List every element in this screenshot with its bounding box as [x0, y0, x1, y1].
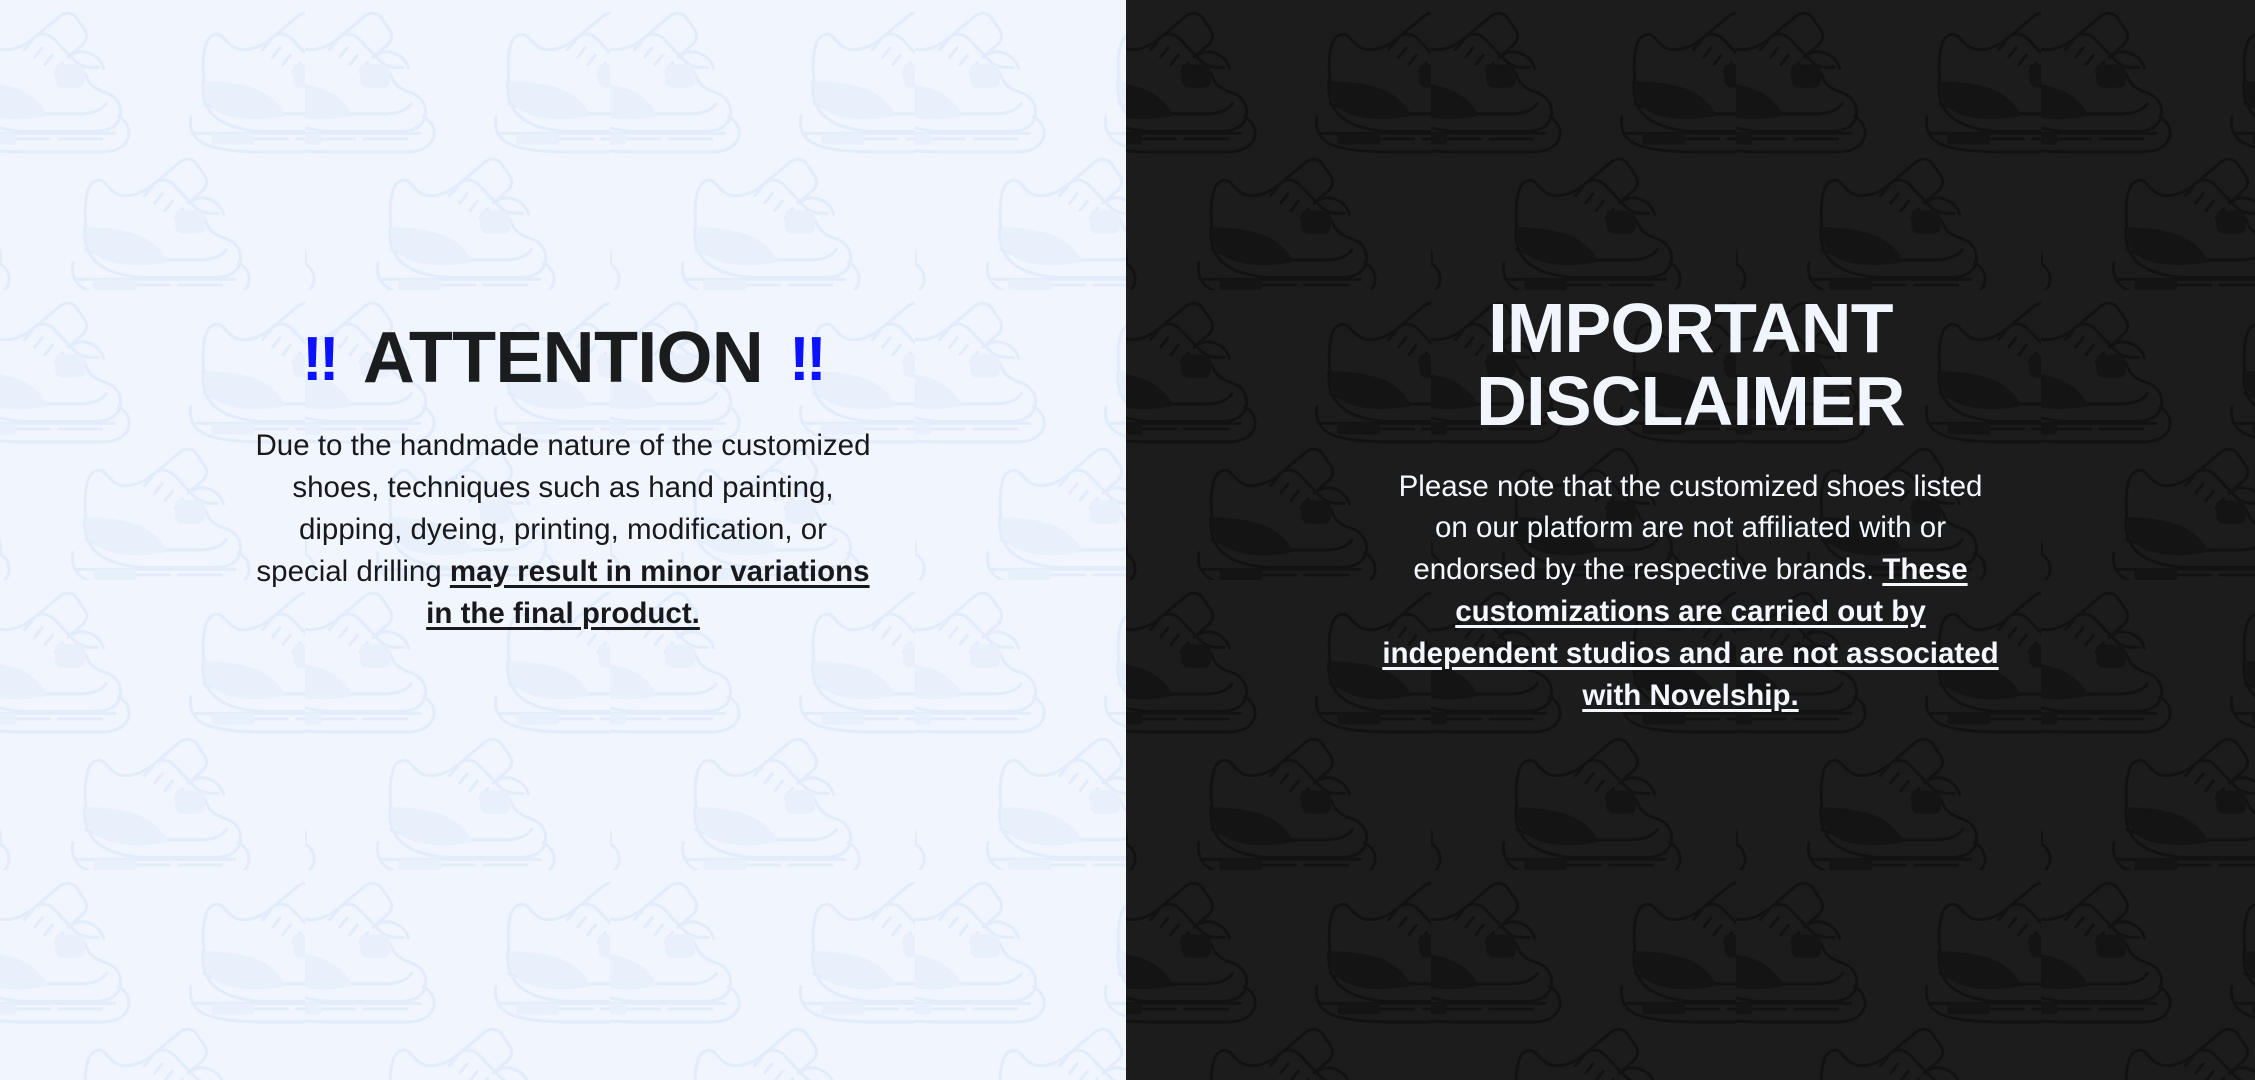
- attention-heading: ‼ ATTENTION ‼: [302, 322, 824, 394]
- disclaimer-panel: IMPORTANT DISCLAIMER Please note that th…: [1126, 0, 2255, 1080]
- disclaimer-heading: IMPORTANT DISCLAIMER: [1476, 292, 1905, 438]
- disclaimer-body: Please note that the customized shoes li…: [1381, 466, 2001, 717]
- disclaimer-content: IMPORTANT DISCLAIMER Please note that th…: [1126, 0, 2255, 717]
- attention-content: ‼ ATTENTION ‼ Due to the handmade nature…: [0, 0, 1126, 634]
- attention-body: Due to the handmade nature of the custom…: [253, 425, 873, 634]
- attention-panel: ‼ ATTENTION ‼ Due to the handmade nature…: [0, 0, 1126, 1080]
- customization-notice-banner: ‼ ATTENTION ‼ Due to the handmade nature…: [0, 0, 2255, 1080]
- attention-body-emphasis: may result in minor variations in the fi…: [426, 555, 869, 630]
- disclaimer-heading-line-2: DISCLAIMER: [1476, 362, 1905, 440]
- disclaimer-heading-line-1: IMPORTANT: [1488, 289, 1893, 367]
- double-exclamation-icon-right: ‼: [789, 329, 824, 391]
- attention-heading-text: ATTENTION: [363, 322, 763, 394]
- double-exclamation-icon-left: ‼: [302, 329, 337, 391]
